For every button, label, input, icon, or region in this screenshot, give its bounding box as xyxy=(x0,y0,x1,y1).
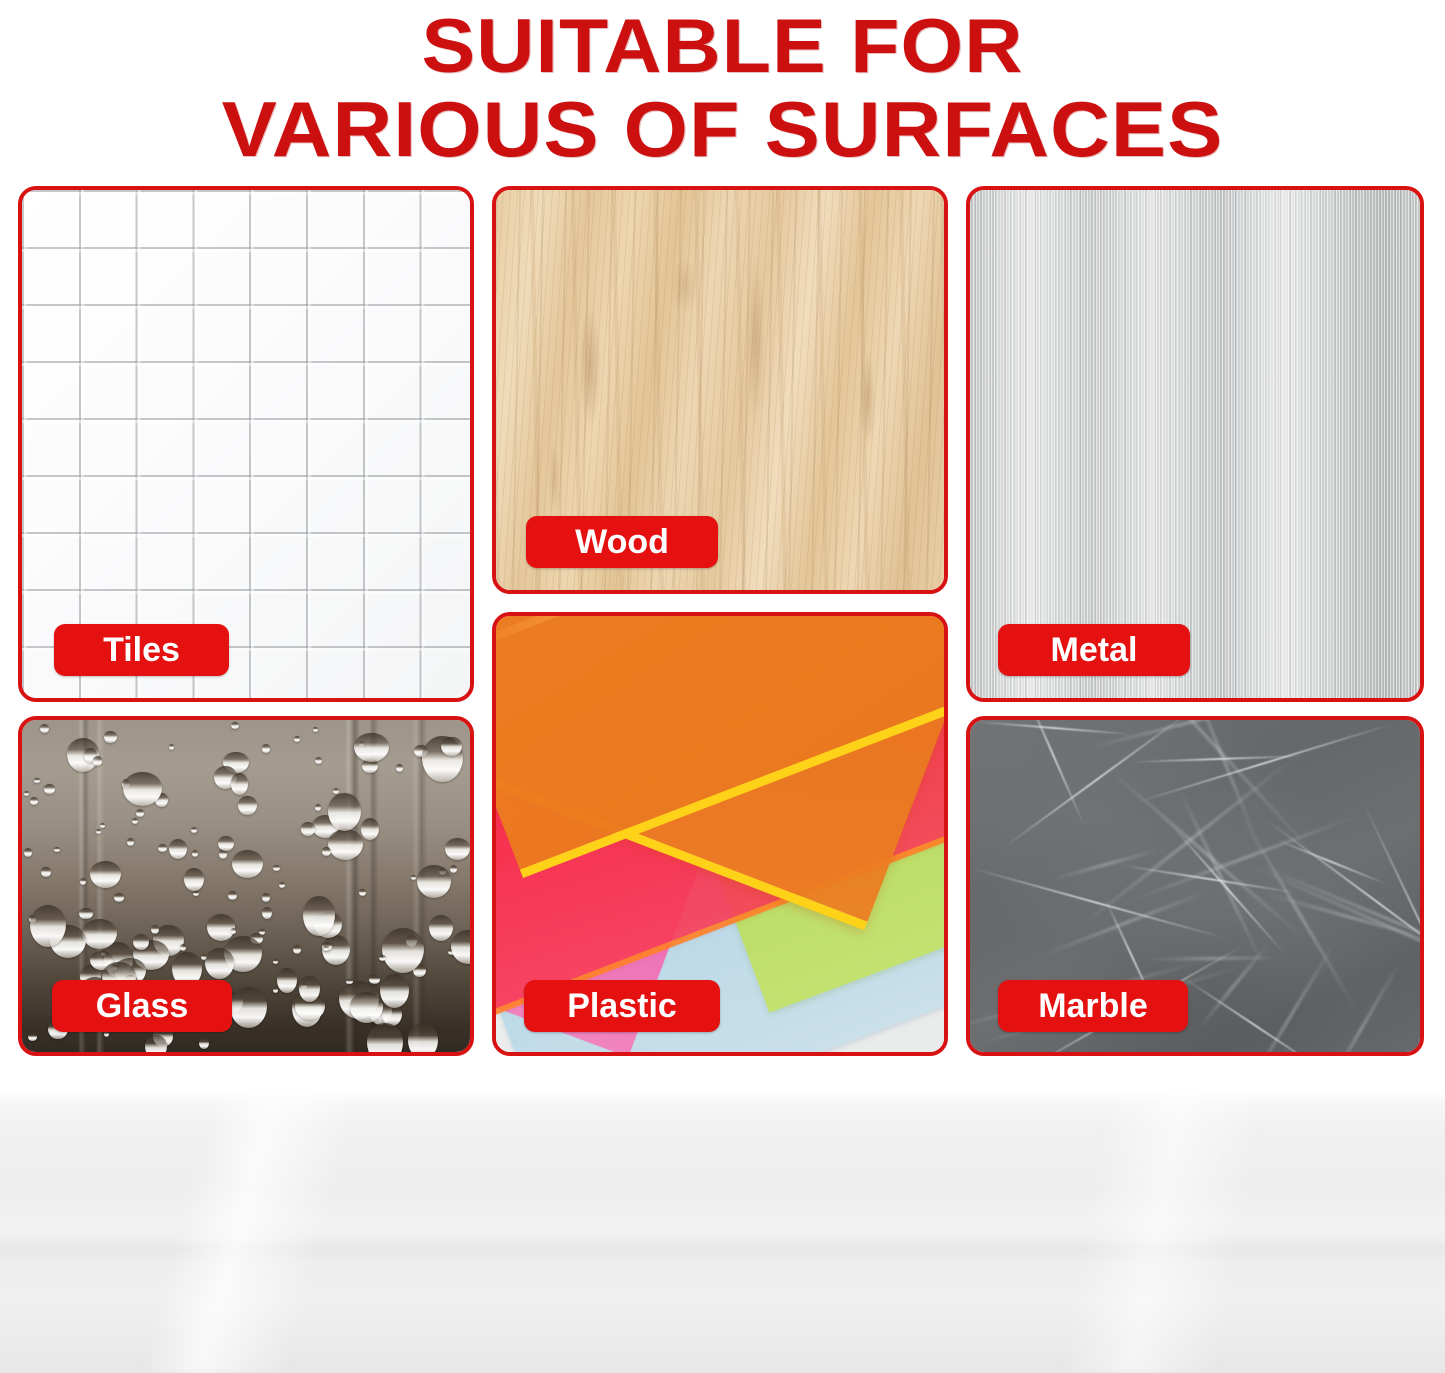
water-droplet xyxy=(41,867,50,878)
water-droplet xyxy=(151,925,159,934)
water-droplet xyxy=(232,850,263,877)
water-droplet xyxy=(315,757,322,765)
metal-texture xyxy=(970,190,1420,698)
water-droplet xyxy=(328,829,364,860)
water-droplet xyxy=(192,850,199,857)
water-droplet xyxy=(54,847,60,852)
water-droplet xyxy=(136,809,144,816)
water-droplet xyxy=(279,882,285,888)
water-droplet xyxy=(294,736,300,741)
water-droplet xyxy=(104,731,116,743)
water-droplet xyxy=(367,1023,403,1056)
page-title-line-1: SUITABLE FOR xyxy=(0,6,1445,88)
water-droplet xyxy=(231,722,239,730)
water-droplet xyxy=(322,847,331,857)
water-droplet xyxy=(228,891,237,900)
surface-label-marble: Marble xyxy=(998,980,1188,1032)
surface-card-marble: Marble xyxy=(966,716,1424,1056)
marble-vein xyxy=(1039,889,1211,958)
water-droplet xyxy=(169,839,187,859)
water-droplet xyxy=(207,914,236,941)
water-droplet xyxy=(90,861,121,888)
water-droplet xyxy=(199,1038,209,1049)
water-droplet xyxy=(238,796,257,815)
water-droplet xyxy=(451,930,474,964)
water-droplet xyxy=(273,959,278,964)
water-droplet xyxy=(396,764,403,772)
water-droplet xyxy=(380,974,410,1008)
water-droplet xyxy=(262,907,272,919)
water-droplet xyxy=(408,1023,439,1056)
water-droplet xyxy=(262,893,270,902)
water-droplet xyxy=(28,1033,37,1042)
water-droplet xyxy=(100,823,105,827)
water-droplet xyxy=(315,804,322,811)
surface-label-wood: Wood xyxy=(526,516,718,568)
water-droplet xyxy=(114,893,125,902)
water-droplet xyxy=(299,976,320,1001)
water-droplet xyxy=(445,838,470,860)
water-droplet xyxy=(230,987,267,1028)
water-droplet xyxy=(30,905,66,947)
water-droplet xyxy=(34,778,39,784)
water-droplet xyxy=(313,727,318,732)
water-droplet xyxy=(359,889,366,897)
water-droplet xyxy=(411,875,416,880)
water-droplet xyxy=(429,915,453,941)
water-droplet xyxy=(44,784,54,794)
surface-label-plastic: Plastic xyxy=(524,980,720,1032)
water-droplet xyxy=(145,1035,167,1056)
surface-card-wood: Wood xyxy=(492,186,948,594)
water-droplet xyxy=(169,744,174,750)
water-droplet xyxy=(132,818,138,825)
surface-label-tiles: Tiles xyxy=(54,624,229,676)
water-droplet xyxy=(273,987,278,993)
water-droplet xyxy=(273,865,280,871)
water-droplet xyxy=(323,946,329,951)
water-droplet xyxy=(218,836,234,851)
water-droplet xyxy=(80,878,86,885)
water-droplet xyxy=(417,865,452,898)
water-droplet xyxy=(30,797,37,805)
marble-vein xyxy=(976,721,1133,736)
water-droplet xyxy=(96,829,101,834)
water-droplet xyxy=(333,788,339,794)
surface-card-tiles: Tiles xyxy=(18,186,474,702)
page-title: SUITABLE FOR VARIOUS OF SURFACES xyxy=(0,0,1445,172)
water-droplet xyxy=(303,896,335,935)
water-droplet xyxy=(354,733,389,762)
water-droplet xyxy=(193,891,199,896)
water-droplet xyxy=(184,868,203,891)
tiles-texture xyxy=(22,190,470,698)
water-droplet xyxy=(40,724,49,733)
water-droplet xyxy=(24,791,30,796)
water-droplet xyxy=(301,822,315,835)
surface-label-glass: Glass xyxy=(52,980,232,1032)
water-droplet xyxy=(293,945,301,954)
water-droplet xyxy=(127,838,134,846)
marble-vein xyxy=(1135,723,1394,804)
surface-card-metal: Metal xyxy=(966,186,1424,702)
water-droplet xyxy=(79,908,92,920)
water-droplet xyxy=(450,865,457,873)
water-droplet xyxy=(219,849,227,858)
water-droplet xyxy=(262,744,271,752)
water-droplet xyxy=(369,975,380,984)
water-droplet xyxy=(123,772,162,806)
water-droplet xyxy=(277,968,298,993)
marble-vein xyxy=(1002,716,1191,849)
water-droplet xyxy=(93,756,102,765)
surface-card-plastic: Plastic xyxy=(492,612,948,1056)
water-droplet xyxy=(191,827,198,834)
water-droplet xyxy=(158,844,167,852)
water-droplet xyxy=(24,848,32,857)
water-droplet xyxy=(205,948,234,979)
water-droplet xyxy=(231,928,236,934)
water-droplet xyxy=(180,944,186,951)
water-droplet xyxy=(231,773,249,794)
surface-label-metal: Metal xyxy=(998,624,1190,676)
page-title-line-2: VARIOUS OF SURFACES xyxy=(0,88,1445,170)
water-droplet xyxy=(328,793,362,831)
surface-card-glass: Glass xyxy=(18,716,474,1056)
product-backdrop xyxy=(0,1094,1445,1373)
water-droplet xyxy=(382,928,424,973)
water-droplet xyxy=(361,818,379,840)
